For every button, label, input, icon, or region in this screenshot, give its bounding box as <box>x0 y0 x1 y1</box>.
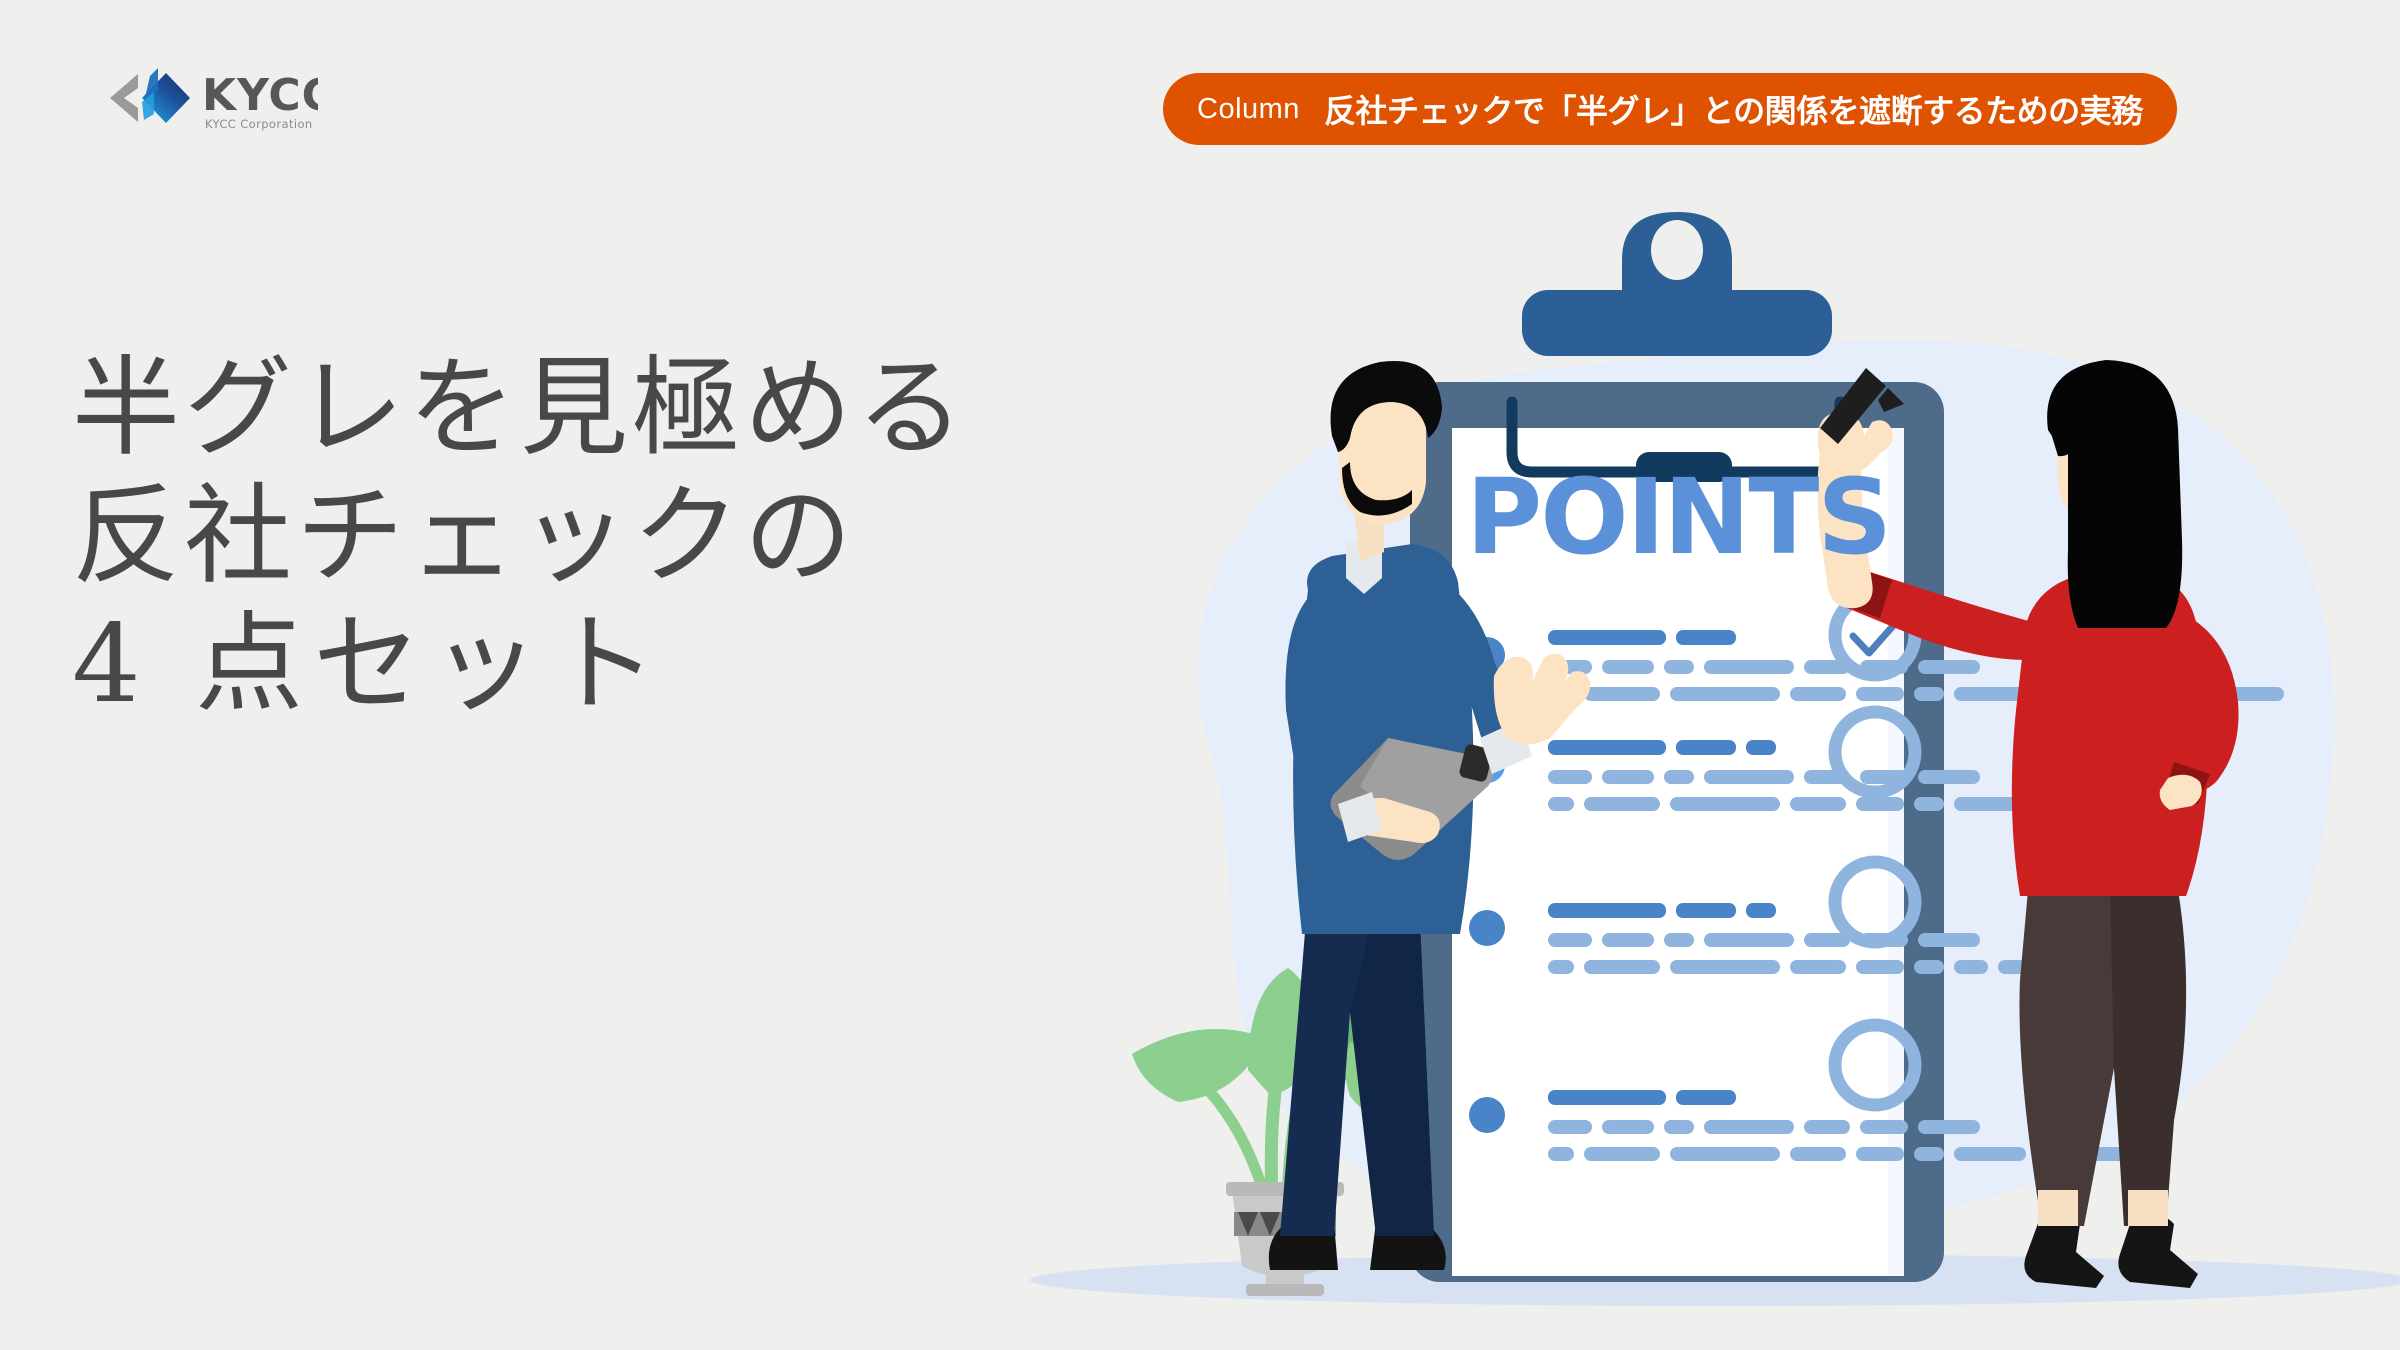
logo-subtitle: KYCC Corporation <box>205 117 313 131</box>
woman-ankle-right <box>2128 1190 2168 1226</box>
clipboard-heading: POINTS <box>1466 465 1890 569</box>
row-1-title-lines <box>1548 630 1736 645</box>
woman-shoe-left <box>2024 1215 2104 1288</box>
woman-ankle-left <box>2038 1190 2078 1226</box>
logo-wordmark: KYCC <box>202 70 318 121</box>
column-badge[interactable]: Column 反社チェックで「半グレ」との関係を遮断するための実務 <box>1163 73 2177 145</box>
points-illustration <box>1020 190 2400 1350</box>
badge-label: Column <box>1197 93 1300 126</box>
woman-pants-shade <box>2110 890 2186 1226</box>
illustration-svg <box>1020 190 2400 1350</box>
chevron-icon <box>110 74 138 122</box>
badge-title: 反社チェックで「半グレ」との関係を遮断するための実務 <box>1324 86 2143 132</box>
kycc-logo-svg: KYCC KYCC Corporation <box>78 58 318 140</box>
row-4-title-lines <box>1548 1090 1736 1105</box>
kycc-logo[interactable]: KYCC KYCC Corporation <box>78 58 318 140</box>
diamond-icon <box>137 68 190 123</box>
man-pants-shade <box>1350 920 1434 1236</box>
bullet-4-icon <box>1469 1097 1505 1133</box>
bullet-3-icon <box>1469 910 1505 946</box>
clipboard-clip <box>1522 212 1832 356</box>
slide-canvas: KYCC KYCC Corporation Column 反社チェックで「半グレ… <box>0 0 2400 1350</box>
